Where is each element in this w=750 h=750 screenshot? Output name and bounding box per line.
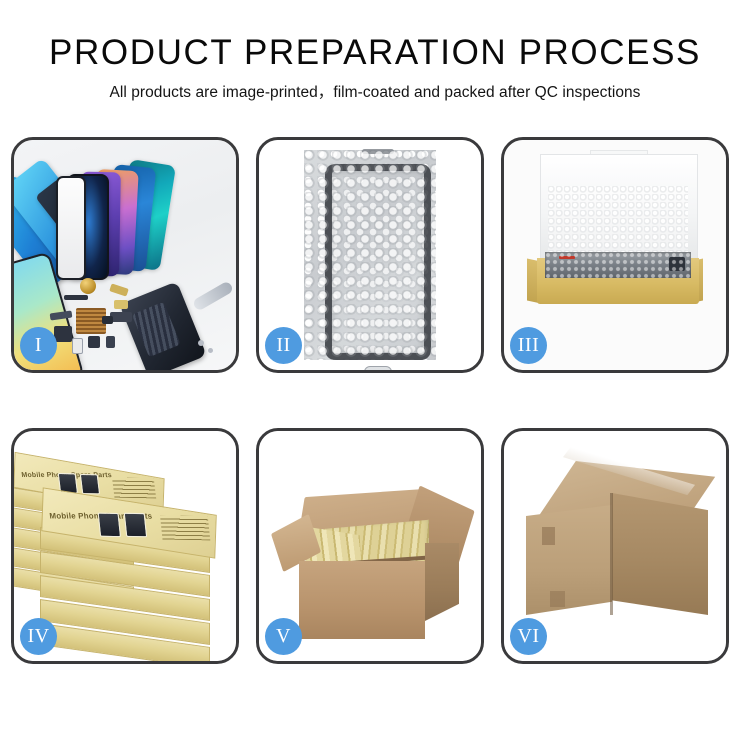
panel-bubble-wrap[interactable]: II bbox=[256, 137, 484, 373]
panel-inner-box[interactable]: III bbox=[501, 137, 729, 373]
panel-sealed-carton[interactable]: VI bbox=[501, 428, 729, 664]
carton-left-face-icon bbox=[526, 505, 612, 615]
panel-raw-parts[interactable]: I bbox=[11, 137, 239, 373]
carton-corner-seam bbox=[610, 493, 613, 615]
panel-badge-4: IV bbox=[20, 618, 57, 655]
carton-front-face-icon bbox=[299, 561, 425, 639]
camera-module-icon bbox=[88, 336, 100, 348]
carton-tab-2-icon bbox=[550, 591, 565, 607]
home-button-icon bbox=[364, 366, 392, 370]
flex-cable-6-icon bbox=[110, 312, 132, 322]
carton-right-face-icon bbox=[612, 493, 708, 615]
panel-badge-6: VI bbox=[510, 618, 547, 655]
flex-cable-3-icon bbox=[54, 326, 72, 342]
panel-badge-1: I bbox=[20, 327, 57, 364]
page-header: PRODUCT PREPARATION PROCESS All products… bbox=[0, 0, 750, 104]
packed-screen-icon bbox=[545, 252, 691, 278]
earpiece-slot-icon bbox=[362, 149, 394, 154]
process-panel-grid: I II bbox=[11, 137, 739, 664]
screw-icon bbox=[198, 340, 204, 346]
panel-open-carton[interactable]: V bbox=[256, 428, 484, 664]
panel-badge-3: III bbox=[510, 327, 547, 364]
sim-tray-icon bbox=[72, 338, 83, 354]
screw-2-icon bbox=[208, 348, 213, 353]
button-part-icon bbox=[102, 316, 113, 324]
carton-tab-1-icon bbox=[542, 527, 555, 545]
connector-icon bbox=[669, 257, 685, 271]
wrapped-screen-icon bbox=[325, 164, 431, 360]
flex-cable-icon bbox=[64, 295, 88, 300]
panel-badge-2: II bbox=[265, 327, 302, 364]
box-art-screen-2 bbox=[80, 474, 100, 495]
red-marker-icon bbox=[559, 256, 575, 259]
panel-badge-5: V bbox=[265, 618, 302, 655]
page-title: PRODUCT PREPARATION PROCESS bbox=[0, 33, 750, 73]
phone-white-icon bbox=[56, 176, 86, 280]
box-spec-lines-front bbox=[160, 515, 210, 540]
box-art-screen-4 bbox=[124, 513, 147, 538]
gold-component-icon bbox=[80, 278, 96, 294]
panel-box-stack[interactable]: Mobile Phone Spare Parts Mobile Phone Sp… bbox=[11, 428, 239, 664]
foam-insert-icon bbox=[548, 186, 688, 262]
box-art-screen-3 bbox=[98, 513, 121, 538]
speaker-module-icon bbox=[106, 336, 115, 348]
bubble-wrap-sheet-icon bbox=[304, 150, 436, 360]
page-subtitle: All products are image-printed，film-coat… bbox=[0, 82, 750, 104]
box-spec-lines-rear bbox=[112, 477, 156, 498]
flex-cable-5-icon bbox=[114, 300, 128, 309]
